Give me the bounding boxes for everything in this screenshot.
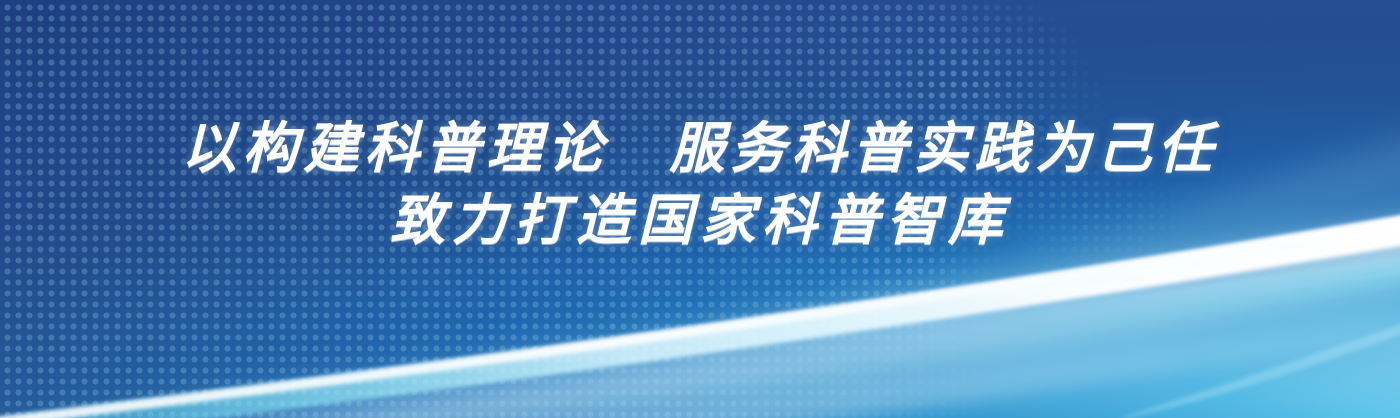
headline-line-2: 致力打造国家科普智库 (0, 184, 1400, 256)
wave-arc-4 (0, 262, 1400, 418)
wave-arc-1 (0, 268, 1400, 418)
thin-streak (1120, 314, 1400, 418)
wave-arc-2 (0, 300, 1400, 418)
hero-banner: 以构建科普理论 服务科普实践为己任 致力打造国家科普智库 (0, 0, 1400, 418)
headline-line-1: 以构建科普理论 服务科普实践为己任 (0, 112, 1400, 184)
bottom-wash-shape (0, 230, 1400, 418)
wave-arc-3 (0, 248, 1400, 418)
banner-headline: 以构建科普理论 服务科普实践为己任 致力打造国家科普智库 (0, 112, 1400, 256)
